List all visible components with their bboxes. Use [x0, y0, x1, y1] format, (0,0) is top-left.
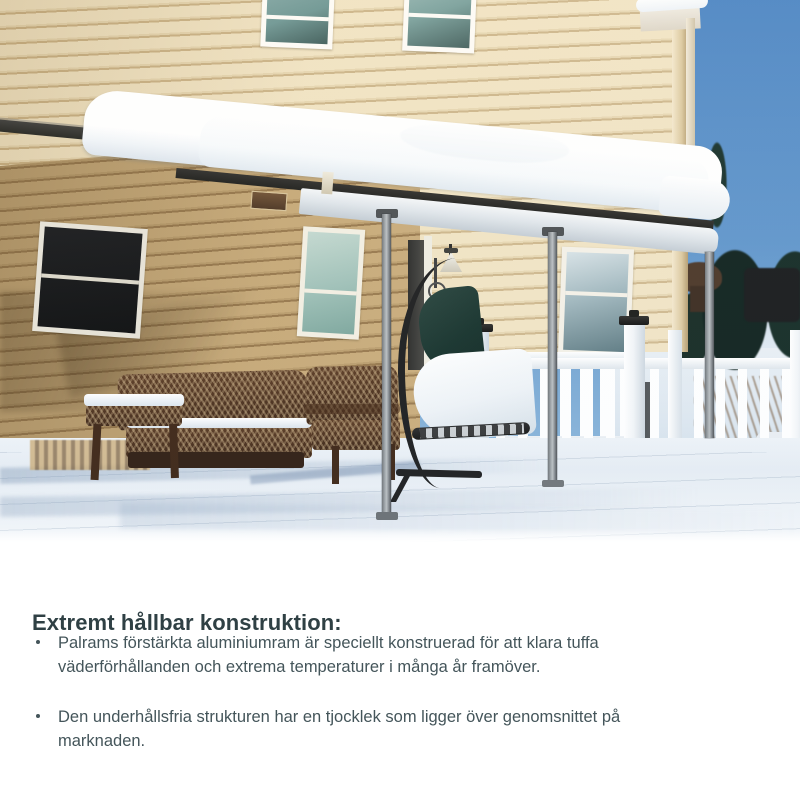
patio-cover-post-2 — [548, 232, 557, 486]
electrical-box — [321, 172, 334, 195]
product-feature-page: Extremt hållbar konstruktion: Palrams fö… — [0, 0, 800, 800]
lower-window-right — [558, 247, 634, 358]
list-item: Palrams förstärkta aluminiumram är speci… — [32, 632, 702, 680]
bullet-icon — [36, 640, 40, 644]
side-table-snow — [84, 394, 184, 406]
upper-window-left — [260, 0, 335, 49]
wall-lantern-cap — [444, 248, 458, 253]
bullet-text: Palrams förstärkta aluminiumram är speci… — [58, 634, 599, 676]
window-glass — [407, 0, 472, 48]
window-glass — [302, 232, 360, 335]
patio-cover-post-1-base — [376, 512, 398, 520]
lower-window-left — [32, 221, 148, 339]
patio-cover-post-3 — [705, 252, 714, 438]
window-glass — [265, 0, 330, 44]
feature-bullet-list: Palrams förstärkta aluminiumram är speci… — [32, 632, 702, 780]
window-glass — [563, 252, 629, 352]
railing-post-cap-2 — [619, 316, 649, 325]
feature-text-block: Extremt hållbar konstruktion: Palrams fö… — [0, 542, 800, 800]
railing-post-finial-2 — [629, 310, 639, 317]
background-object-dark — [744, 268, 800, 322]
bullet-icon — [36, 714, 40, 718]
list-item: Den underhållsfria strukturen har en tjo… — [32, 706, 702, 754]
wall-vent — [250, 191, 287, 211]
patio-cover-post-2-base — [542, 480, 564, 487]
upper-window-right — [402, 0, 478, 53]
chair-leg-left — [332, 446, 339, 484]
bullet-text: Den underhållsfria strukturen har en tjo… — [58, 708, 620, 750]
patio-cover-post-1 — [382, 214, 391, 518]
wicker-sofa-base — [128, 452, 304, 468]
lower-window-middle — [297, 226, 365, 339]
patio-cover-snow-end — [658, 175, 732, 222]
product-photo — [0, 0, 800, 542]
photo-bottom-fade — [0, 528, 800, 542]
